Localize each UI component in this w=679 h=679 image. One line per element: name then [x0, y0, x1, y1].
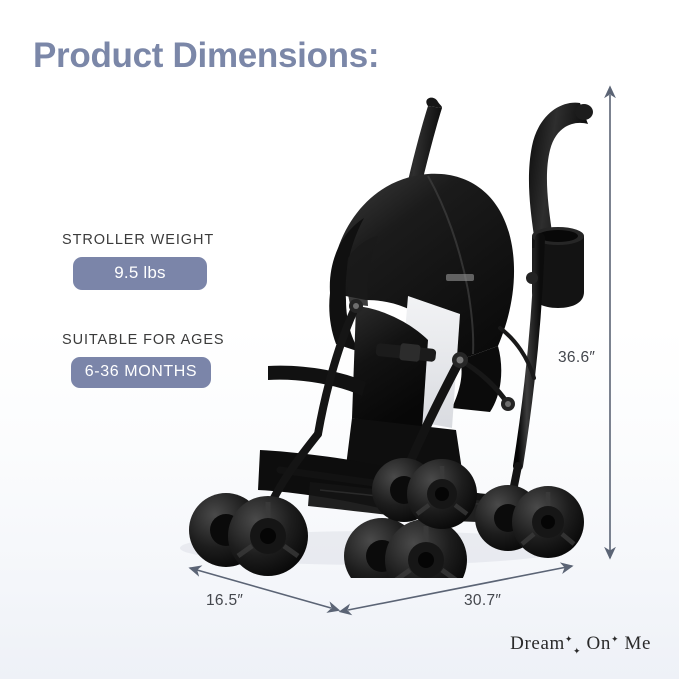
- depth-measurement-label: 30.7″: [464, 592, 501, 610]
- brand-name-part3: Me: [624, 633, 651, 654]
- product-dimensions-infographic: Product Dimensions: STROLLER WEIGHT 9.5 …: [0, 0, 679, 679]
- brand-name-part1: Dream: [510, 633, 565, 654]
- star-icon-bottom: ✦: [573, 646, 581, 656]
- wheels: [189, 458, 584, 578]
- wheel-rear-left: [372, 458, 477, 529]
- wheel-front-left: [189, 493, 308, 576]
- brand-logo: Dream✦✦ On✦ Me: [510, 633, 651, 657]
- page-title: Product Dimensions:: [33, 36, 379, 76]
- stroller-product-image: [160, 78, 600, 578]
- height-measurement-label: 36.6″: [558, 349, 595, 367]
- brand-name-part2: On: [587, 633, 611, 654]
- star-icon-top-left: ✦: [565, 634, 573, 644]
- width-measurement-label: 16.5″: [206, 592, 243, 610]
- main-handle-bar: [529, 103, 593, 236]
- star-icon-top-right: ✦: [611, 634, 619, 644]
- canopy-brand-tag: [446, 274, 474, 281]
